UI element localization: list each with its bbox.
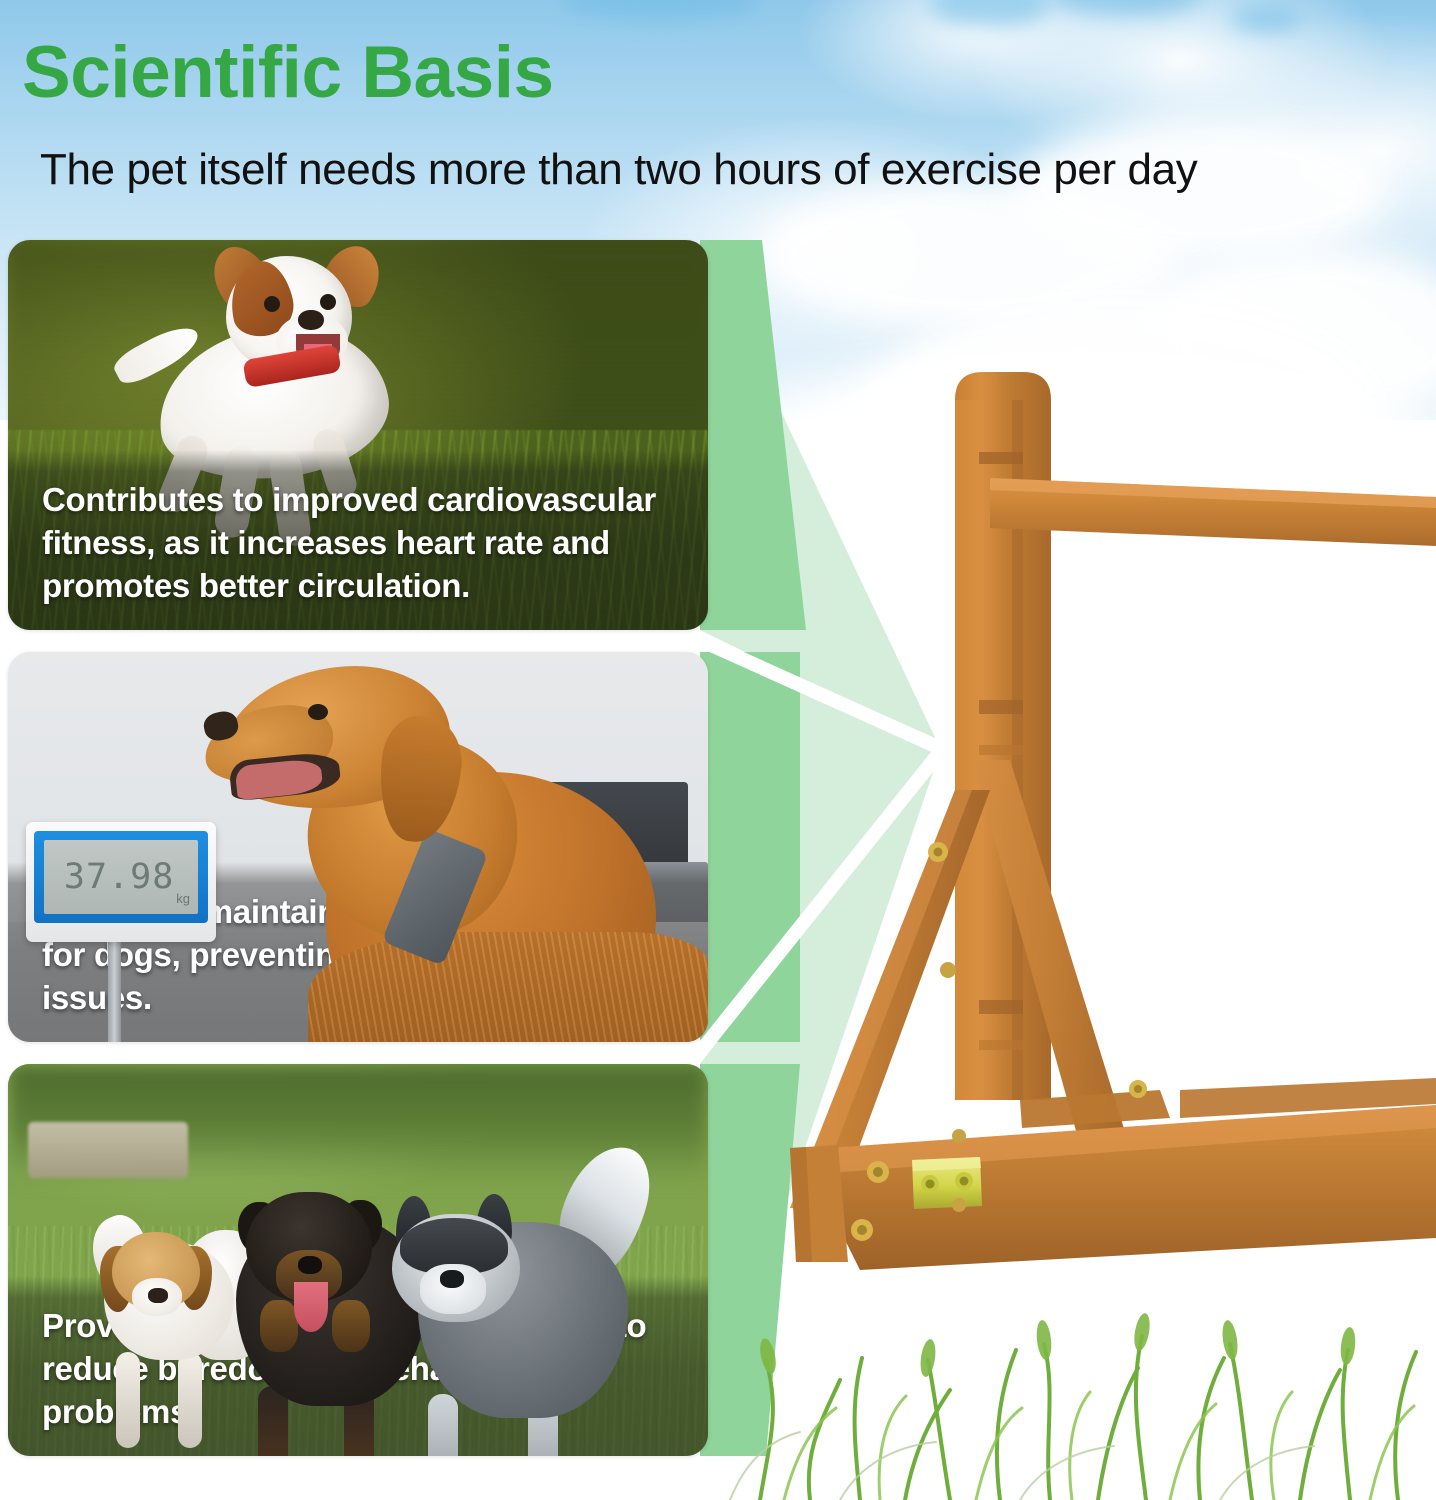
page-title: Scientific Basis (22, 36, 554, 109)
screw (952, 1129, 966, 1143)
screw (952, 1198, 966, 1212)
foreground-grass (700, 1240, 1436, 1500)
screw (940, 962, 956, 978)
page-subtitle: The pet itself needs more than two hours… (40, 148, 1197, 192)
